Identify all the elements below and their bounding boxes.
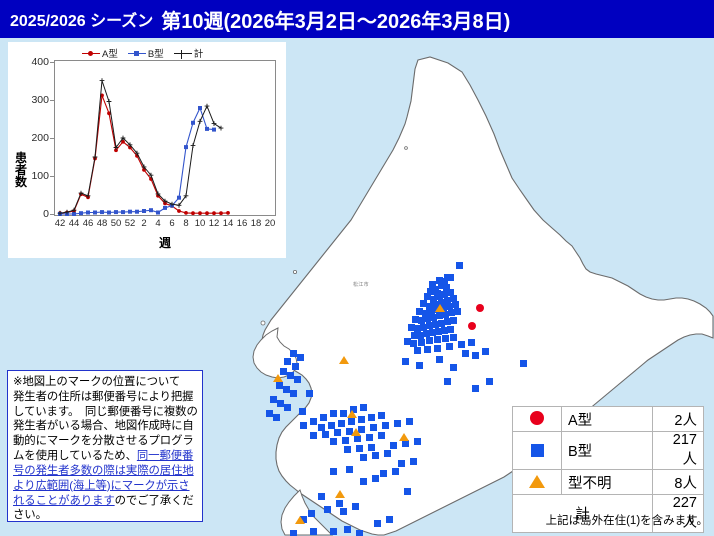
- chart-y-tick-label: 100: [31, 170, 49, 182]
- chart-legend: A型 B型 計: [82, 46, 203, 60]
- legend-value-a: 2人: [653, 407, 704, 432]
- circle-icon: [530, 411, 544, 425]
- chart-data-point: [191, 121, 195, 125]
- chart-data-point: [212, 211, 216, 215]
- islet: [261, 321, 265, 325]
- islet: [293, 270, 296, 273]
- table-row: A型 2人: [513, 407, 704, 432]
- chart-data-point: [184, 145, 188, 149]
- note-line1: ※地図上のマークの位置について: [13, 376, 180, 388]
- chart-x-tick-label: 18: [251, 218, 262, 229]
- chart-x-tick-label: 20: [265, 218, 276, 229]
- chart-series-svg: [54, 60, 276, 216]
- chart-data-point: [114, 210, 118, 214]
- chart-x-tick-label: 16: [237, 218, 248, 229]
- legend-value-b: 217人: [653, 432, 704, 470]
- chart-data-point: [198, 119, 203, 124]
- chart-x-tick-label: 10: [195, 218, 206, 229]
- chart-data-point: [107, 211, 111, 215]
- title-season: 2025/2026 シーズン: [10, 7, 153, 31]
- legend-footnote: 上記は島外在住(1)を含みます。: [512, 512, 712, 528]
- square-icon: [531, 444, 544, 457]
- chart-data-point: [100, 78, 105, 83]
- chart-x-tick-label: 14: [223, 218, 234, 229]
- chart-data-point: [79, 211, 83, 215]
- legend-name-b: B型: [562, 432, 653, 470]
- chart-data-point: [191, 143, 196, 148]
- map-city-label: 松江市: [353, 281, 369, 288]
- legend-name-unknown: 型不明: [562, 470, 653, 495]
- chart-series-line: [60, 95, 228, 213]
- map-note-box: ※地図上のマークの位置について 発生者の住所は郵便番号により把握しています。 同…: [7, 370, 203, 522]
- chart-data-point: [177, 209, 181, 213]
- chart-data-point: [205, 127, 209, 131]
- chart-x-tick-label: 6: [169, 218, 174, 229]
- legend-icon-cell-a: [513, 407, 562, 432]
- chart-data-point: [107, 99, 112, 104]
- chart-x-tick-label: 4: [155, 218, 160, 229]
- chart-data-point: [100, 210, 104, 214]
- chart-x-tick-label: 52: [125, 218, 136, 229]
- legend-label-a: A型: [102, 46, 118, 60]
- note-paragraph: ※地図上のマークの位置について 発生者の住所は郵便番号により把握しています。 同…: [13, 375, 198, 523]
- chart-data-point: [198, 211, 202, 215]
- chart-plot-area: 0100200300400 42444648505224681012141618…: [54, 60, 276, 216]
- chart-data-point: [212, 128, 216, 132]
- chart-x-tick-label: 12: [209, 218, 220, 229]
- islet: [405, 147, 408, 150]
- chart-x-axis-title: 週: [54, 234, 276, 251]
- table-row: 型不明 8人: [513, 470, 704, 495]
- chart-x-tick-label: 44: [69, 218, 80, 229]
- title-bar: 2025/2026 シーズン 第10週(2026年3月2日〜2026年3月8日): [0, 0, 714, 38]
- legend-item-total: 計: [174, 46, 204, 60]
- chart-data-point: [212, 121, 217, 126]
- chart-x-tick-label: 48: [97, 218, 108, 229]
- chart-series-line: [60, 81, 221, 214]
- chart-data-point: [191, 211, 195, 215]
- chart-data-point: [177, 196, 181, 200]
- chart-panel: A型 B型 計 患者数 0100200300400 42444648505224…: [8, 42, 286, 258]
- chart-data-point: [135, 210, 139, 214]
- legend-line-total-icon: [174, 53, 192, 54]
- chart-x-tick-label: 2: [141, 218, 146, 229]
- chart-data-point: [226, 211, 230, 215]
- page-root: 松江市 2025/2026 シーズン 第10週(2026年3月2日〜2026年3…: [0, 0, 714, 536]
- chart-x-tick-label: 46: [83, 218, 94, 229]
- chart-x-tick-label: 8: [183, 218, 188, 229]
- chart-data-point: [163, 206, 167, 210]
- chart-y-axis-title: 患者数: [14, 152, 28, 188]
- chart-y-tick-label: 200: [31, 132, 49, 144]
- chart-x-tick-label: 42: [55, 218, 66, 229]
- triangle-icon: [529, 475, 545, 488]
- chart-data-point: [184, 211, 188, 215]
- title-week: 第10週(2026年3月2日〜2026年3月8日): [161, 5, 510, 34]
- chart-data-point: [142, 209, 146, 213]
- chart-data-point: [198, 106, 202, 110]
- chart-data-point: [93, 211, 97, 215]
- chart-y-tick-label: 300: [31, 94, 49, 106]
- chart-data-point: [219, 126, 224, 131]
- legend-value-unknown: 8人: [653, 470, 704, 495]
- chart-y-tick-label: 0: [43, 208, 49, 220]
- chart-data-point: [205, 104, 210, 109]
- legend-item-a: A型: [82, 46, 118, 60]
- chart-data-point: [128, 210, 132, 214]
- chart-data-point: [219, 211, 223, 215]
- legend-line-b-icon: [128, 53, 146, 54]
- chart-data-point: [121, 210, 125, 214]
- legend-icon-cell-b: [513, 432, 562, 470]
- legend-label-b: B型: [148, 46, 164, 60]
- chart-x-tick-label: 50: [111, 218, 122, 229]
- legend-icon-cell-unknown: [513, 470, 562, 495]
- chart-data-point: [205, 211, 209, 215]
- chart-data-point: [156, 211, 160, 215]
- legend-label-total: 計: [194, 46, 204, 60]
- legend-name-a: A型: [562, 407, 653, 432]
- chart-data-point: [86, 211, 90, 215]
- legend-item-b: B型: [128, 46, 164, 60]
- chart-y-tick-label: 400: [31, 56, 49, 68]
- table-row: B型 217人: [513, 432, 704, 470]
- legend-line-a-icon: [82, 53, 100, 54]
- chart-data-point: [149, 208, 153, 212]
